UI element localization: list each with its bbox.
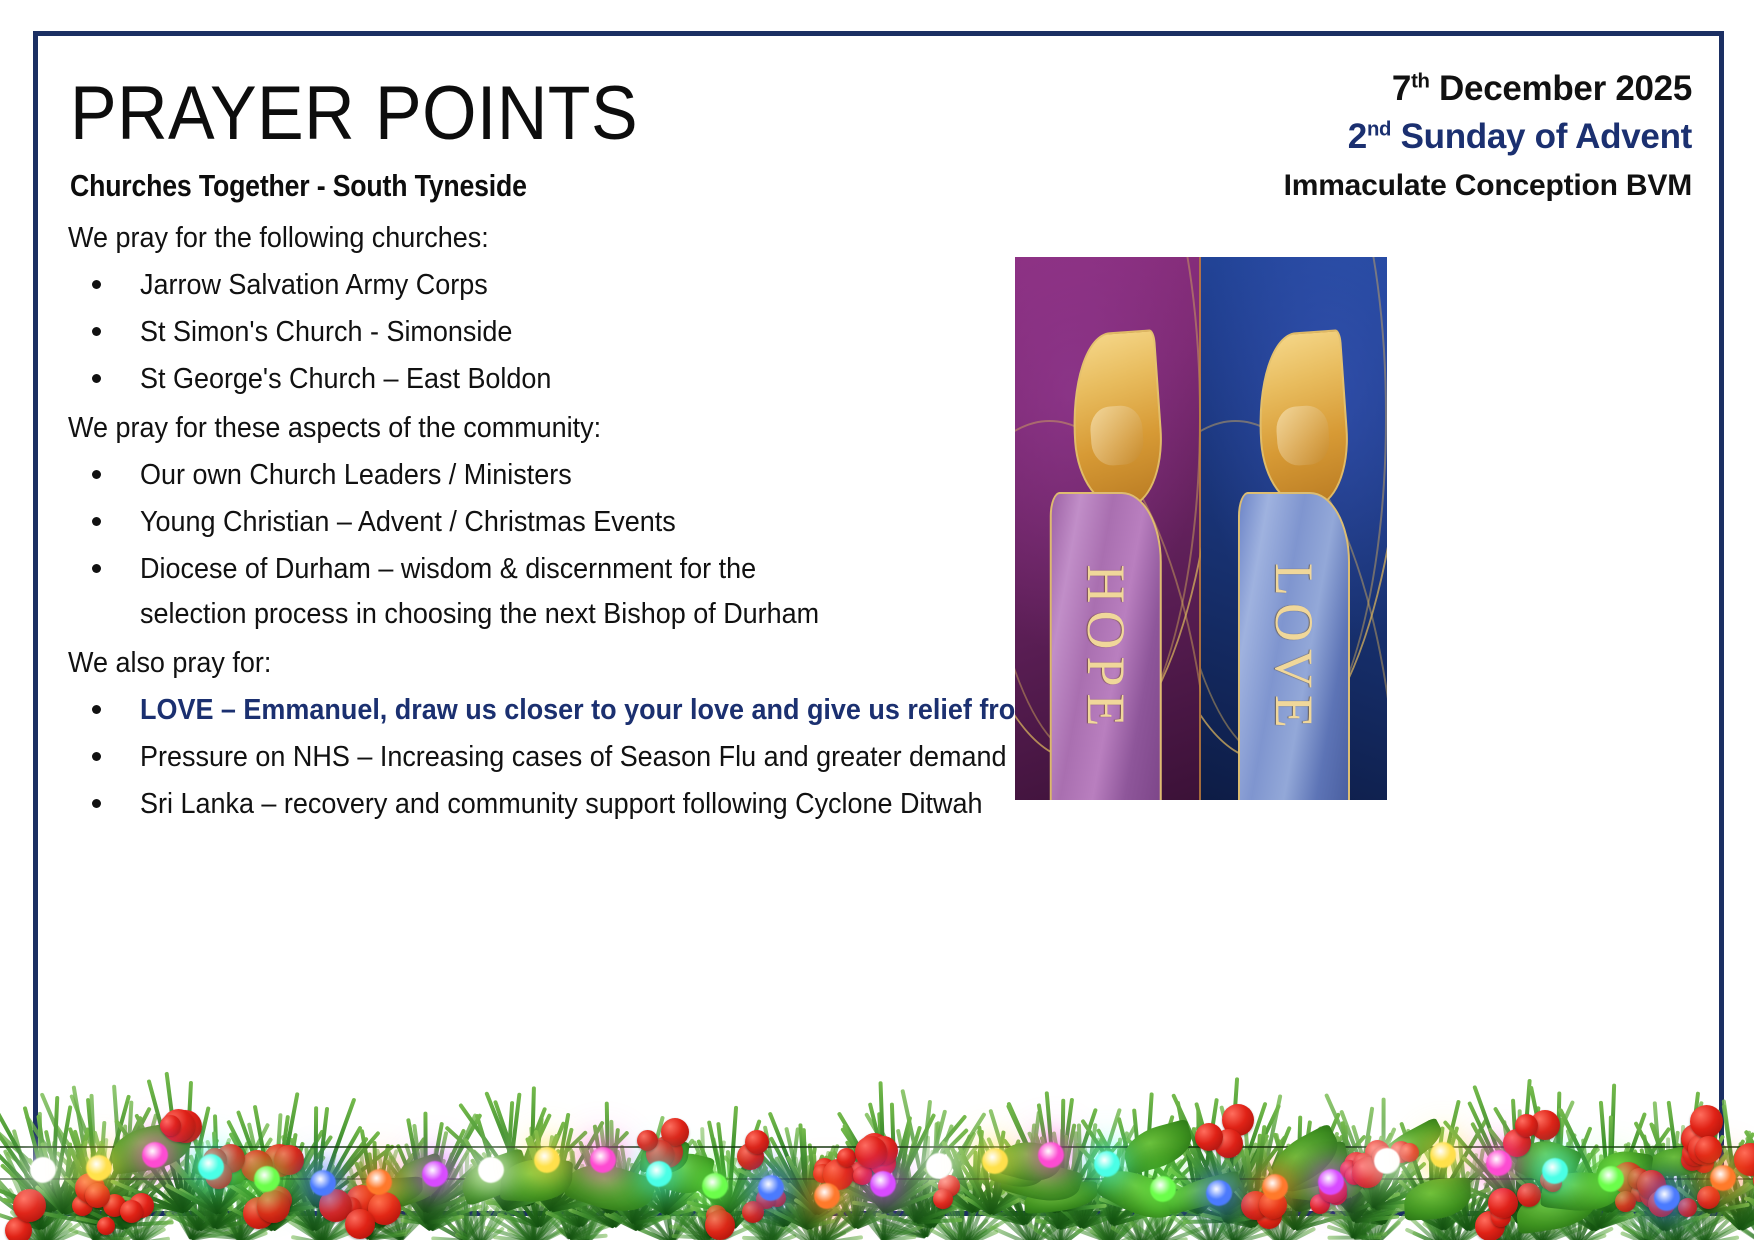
list-item-label: St George's Church – East Boldon <box>140 365 551 394</box>
section-lead-churches: We pray for the following churches: <box>68 224 998 253</box>
advent-candles-image: HOPE LOVE <box>1015 257 1387 800</box>
prayer-body: We pray for the following churches: Jarr… <box>68 224 1068 819</box>
bullet-icon <box>92 705 101 714</box>
hope-candle-panel: HOPE <box>1015 257 1201 800</box>
list-item-label: Jarrow Salvation Army Corps <box>140 271 488 300</box>
also-pray-list: LOVE – Emmanuel, draw us closer to your … <box>68 696 1068 819</box>
list-item: Pressure on NHS – Increasing cases of Se… <box>68 743 1068 772</box>
bullet-icon <box>92 564 101 573</box>
list-item-label: St Simon's Church - Simonside <box>140 318 512 347</box>
date-header-block: 7th December 2025 2nd Sunday of Advent I… <box>1072 68 1692 205</box>
service-date: 7th December 2025 <box>1072 68 1692 111</box>
list-item: Diocese of Durham – wisdom & discernment… <box>68 555 1068 629</box>
church-list: Jarrow Salvation Army Corps St Simon's C… <box>68 271 1068 394</box>
list-item-highlighted: LOVE – Emmanuel, draw us closer to your … <box>68 696 1068 725</box>
bullet-icon <box>92 374 101 383</box>
hope-candle: HOPE <box>1050 492 1162 800</box>
list-item-label-continuation: selection process in choosing the next B… <box>140 600 1003 629</box>
date-month-year: December 2025 <box>1430 69 1692 108</box>
date-ordinal-suffix: th <box>1411 70 1430 92</box>
list-item-label: Sri Lanka – recovery and community suppo… <box>140 790 982 819</box>
page-title: PRAYER POINTS <box>70 76 638 152</box>
list-item: St Simon's Church - Simonside <box>68 318 1068 347</box>
list-item-label: Diocese of Durham – wisdom & discernment… <box>140 555 756 584</box>
bullet-icon <box>92 327 101 336</box>
love-candle-word: LOVE <box>1263 563 1325 735</box>
love-candle: LOVE <box>1238 492 1350 800</box>
bullet-icon <box>92 752 101 761</box>
list-item: St George's Church – East Boldon <box>68 365 1068 394</box>
poster-content: PRAYER POINTS Churches Together - South … <box>64 58 1702 1240</box>
advent-ordinal-suffix: nd <box>1367 118 1391 140</box>
advent-number: 2 <box>1348 117 1367 156</box>
advent-sunday-label: 2nd Sunday of Advent <box>1072 115 1692 159</box>
love-candle-panel: LOVE <box>1201 257 1387 800</box>
bullet-icon <box>92 280 101 289</box>
community-list: Our own Church Leaders / Ministers Young… <box>68 461 1068 629</box>
list-item: Our own Church Leaders / Ministers <box>68 461 1068 490</box>
list-item: Sri Lanka – recovery and community suppo… <box>68 790 1068 819</box>
list-item: Jarrow Salvation Army Corps <box>68 271 1068 300</box>
section-lead-community: We pray for these aspects of the communi… <box>68 414 998 443</box>
hope-candle-word: HOPE <box>1075 564 1137 733</box>
bullet-icon <box>92 799 101 808</box>
advent-text: Sunday of Advent <box>1391 117 1692 156</box>
date-day: 7 <box>1392 69 1411 108</box>
feast-day-label: Immaculate Conception BVM <box>1072 166 1692 205</box>
section-lead-also: We also pray for: <box>68 649 998 678</box>
list-item: Young Christian – Advent / Christmas Eve… <box>68 508 1068 537</box>
organisation-subtitle: Churches Together - South Tyneside <box>70 168 527 204</box>
bullet-icon <box>92 517 101 526</box>
list-item-label: Young Christian – Advent / Christmas Eve… <box>140 508 676 537</box>
poster-page: PRAYER POINTS Churches Together - South … <box>0 0 1754 1240</box>
bullet-icon <box>92 470 101 479</box>
list-item-label: Our own Church Leaders / Ministers <box>140 461 572 490</box>
